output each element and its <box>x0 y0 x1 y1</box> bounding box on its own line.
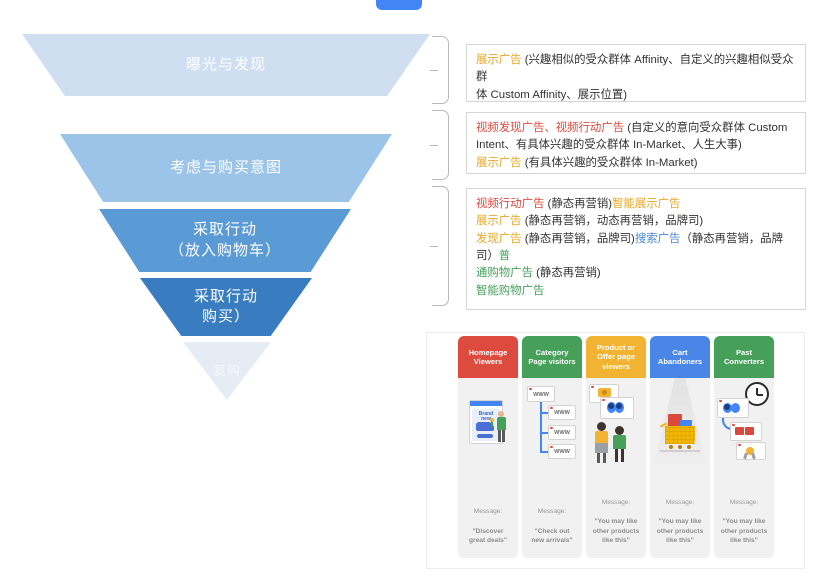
marketing-funnel: 曝光与发现 考虑与购买意图 采取行动 （放入购物车） 采取行动 购买） 复购 <box>0 28 450 358</box>
funnel-stage-label: 曝光与发现 <box>186 55 266 75</box>
detail-line: 视频发现广告、视频行动广告 (自定义的意向受众群体 Custom <box>476 120 796 137</box>
detail-run: (静态再营销，品牌司) <box>522 233 635 245</box>
funnel-stage-repurchase: 复购 <box>183 342 271 400</box>
card-illustration-clock-repeat-purchase <box>714 378 774 498</box>
card-message-text: "Discover great deals" <box>461 527 515 546</box>
funnel-stage-label: 采取行动 （放入购物车） <box>169 220 281 261</box>
detail-box-awareness: 展示广告 (兴趣相似的受众群体 Affinity、自定义的兴趣相似受众群体 Cu… <box>466 44 806 102</box>
card-message: Message: "Check out new arrivals" <box>522 507 582 558</box>
detail-run: Intent、有具体兴趣的受众群体 In-Market、人生大事) <box>476 139 742 151</box>
audience-segments-panel: Homepage Viewers Brand new Message: "Dis… <box>416 328 815 576</box>
funnel-stage-consideration: 考虑与购买意图 <box>60 134 392 202</box>
detail-line: 展示广告 (静态再营销，动态再营销，品牌司) <box>476 213 796 230</box>
detail-run: (兴趣相似的受众群体 Affinity、自定义的兴趣相似受众群 <box>476 54 794 83</box>
card-illustration-www-sitemap-tree: WWW WWW WWW WWW <box>522 378 582 507</box>
audience-card-category-page-visitors[interactable]: Category Page visitors WWW WWW WWW WWW M… <box>522 336 582 558</box>
detail-line: 智能购物广告 <box>476 283 796 300</box>
funnel-stage-label: 采取行动 购买） <box>194 287 258 328</box>
detail-run: 发现广告 <box>476 233 522 245</box>
audience-card-product-offer-page-viewers[interactable]: Product or Offer page viewers <box>586 336 646 558</box>
card-header: Cart Abandoners <box>650 336 710 378</box>
audience-card-cart-abandoners[interactable]: Cart Abandoners Message: "You may like o… <box>650 336 710 558</box>
card-header: Homepage Viewers <box>458 336 518 378</box>
detail-run: 智能购物广告 <box>476 285 544 297</box>
detail-run: 普 <box>499 250 510 262</box>
detail-run: 展示广告 <box>476 54 522 66</box>
card-message: Message: "You may like other products li… <box>650 498 710 558</box>
top-blue-pill[interactable] <box>376 0 422 10</box>
detail-line: 视频行动广告 (静态再营销)智能展示广告 <box>476 196 796 213</box>
audience-card-homepage-viewers[interactable]: Homepage Viewers Brand new Message: "Dis… <box>458 336 518 558</box>
detail-run: (静态再营销) <box>544 198 612 210</box>
www-label: WWW <box>548 410 576 416</box>
card-header: Past Converters <box>714 336 774 378</box>
detail-run: 展示广告 <box>476 215 522 227</box>
funnel-stage-awareness: 曝光与发现 <box>22 34 430 96</box>
detail-line: 体 Custom Affinity、展示位置) <box>476 87 796 104</box>
www-label: WWW <box>527 392 555 398</box>
detail-run: 搜索广告 <box>635 233 681 245</box>
detail-run: (静态再营销) <box>533 267 601 279</box>
card-illustration-brand-new-storefront: Brand new <box>458 378 518 507</box>
detail-line: 展示广告 (有具体兴趣的受众群体 In-Market) <box>476 155 796 172</box>
card-message-label: Message: <box>717 498 771 508</box>
card-illustration-abandoned-shopping-cart <box>650 378 710 498</box>
card-message-label: Message: <box>653 498 707 508</box>
detail-run: 视频发现广告、视频行动广告 <box>476 122 624 134</box>
funnel-stage-label: 考虑与购买意图 <box>170 158 282 178</box>
detail-run: 视频行动广告 <box>476 198 544 210</box>
detail-run: 智能展示广告 <box>612 198 680 210</box>
detail-box-action: 视频行动广告 (静态再营销)智能展示广告展示广告 (静态再营销，动态再营销，品牌… <box>466 188 806 310</box>
detail-run: 展示广告 <box>476 157 522 169</box>
card-message-text: "Check out new arrivals" <box>525 527 579 546</box>
detail-run: (自定义的意向受众群体 Custom <box>624 122 787 134</box>
card-header: Product or Offer page viewers <box>586 336 646 378</box>
funnel-stage-action-cart: 采取行动 （放入购物车） <box>99 209 351 272</box>
audience-card-list: Homepage Viewers Brand new Message: "Dis… <box>458 336 774 558</box>
detail-box-consideration: 视频发现广告、视频行动广告 (自定义的意向受众群体 CustomIntent、有… <box>466 112 806 174</box>
detail-run: (有具体兴趣的受众群体 In-Market) <box>522 157 698 169</box>
card-message-text: "You may like other products like this" <box>653 517 707 546</box>
www-label: WWW <box>548 449 576 455</box>
card-message-text: "You may like other products like this" <box>589 517 643 546</box>
card-header: Category Page visitors <box>522 336 582 378</box>
card-message-text: "You may like other products like this" <box>717 517 771 546</box>
funnel-stage-action-buy: 采取行动 购买） <box>140 278 312 336</box>
bracket-consideration <box>432 110 449 180</box>
detail-line: Intent、有具体兴趣的受众群体 In-Market、人生大事) <box>476 137 796 154</box>
detail-run: 通购物广告 <box>476 267 533 279</box>
card-message: Message: "You may like other products li… <box>586 498 646 558</box>
bracket-action <box>432 186 449 306</box>
bracket-awareness <box>432 36 449 104</box>
card-message-label: Message: <box>461 507 515 517</box>
card-message-label: Message: <box>589 498 643 508</box>
detail-line: 发现广告 (静态再营销，品牌司)搜索广告（静态再营销，品牌司）普 <box>476 231 796 266</box>
card-message-label: Message: <box>525 507 579 517</box>
audience-card-past-converters[interactable]: Past Converters Message: <box>714 336 774 558</box>
detail-line: 通购物广告 (静态再营销) <box>476 265 796 282</box>
card-message: Message: "You may like other products li… <box>714 498 774 558</box>
detail-line: 展示广告 (兴趣相似的受众群体 Affinity、自定义的兴趣相似受众群 <box>476 52 796 87</box>
funnel-stage-label: 复购 <box>213 362 241 380</box>
www-label: WWW <box>548 430 576 436</box>
detail-run: (静态再营销，动态再营销，品牌司) <box>522 215 704 227</box>
card-illustration-two-shoppers-browsing <box>586 378 646 498</box>
detail-run: 体 Custom Affinity、展示位置) <box>476 89 627 101</box>
card-message: Message: "Discover great deals" <box>458 507 518 558</box>
